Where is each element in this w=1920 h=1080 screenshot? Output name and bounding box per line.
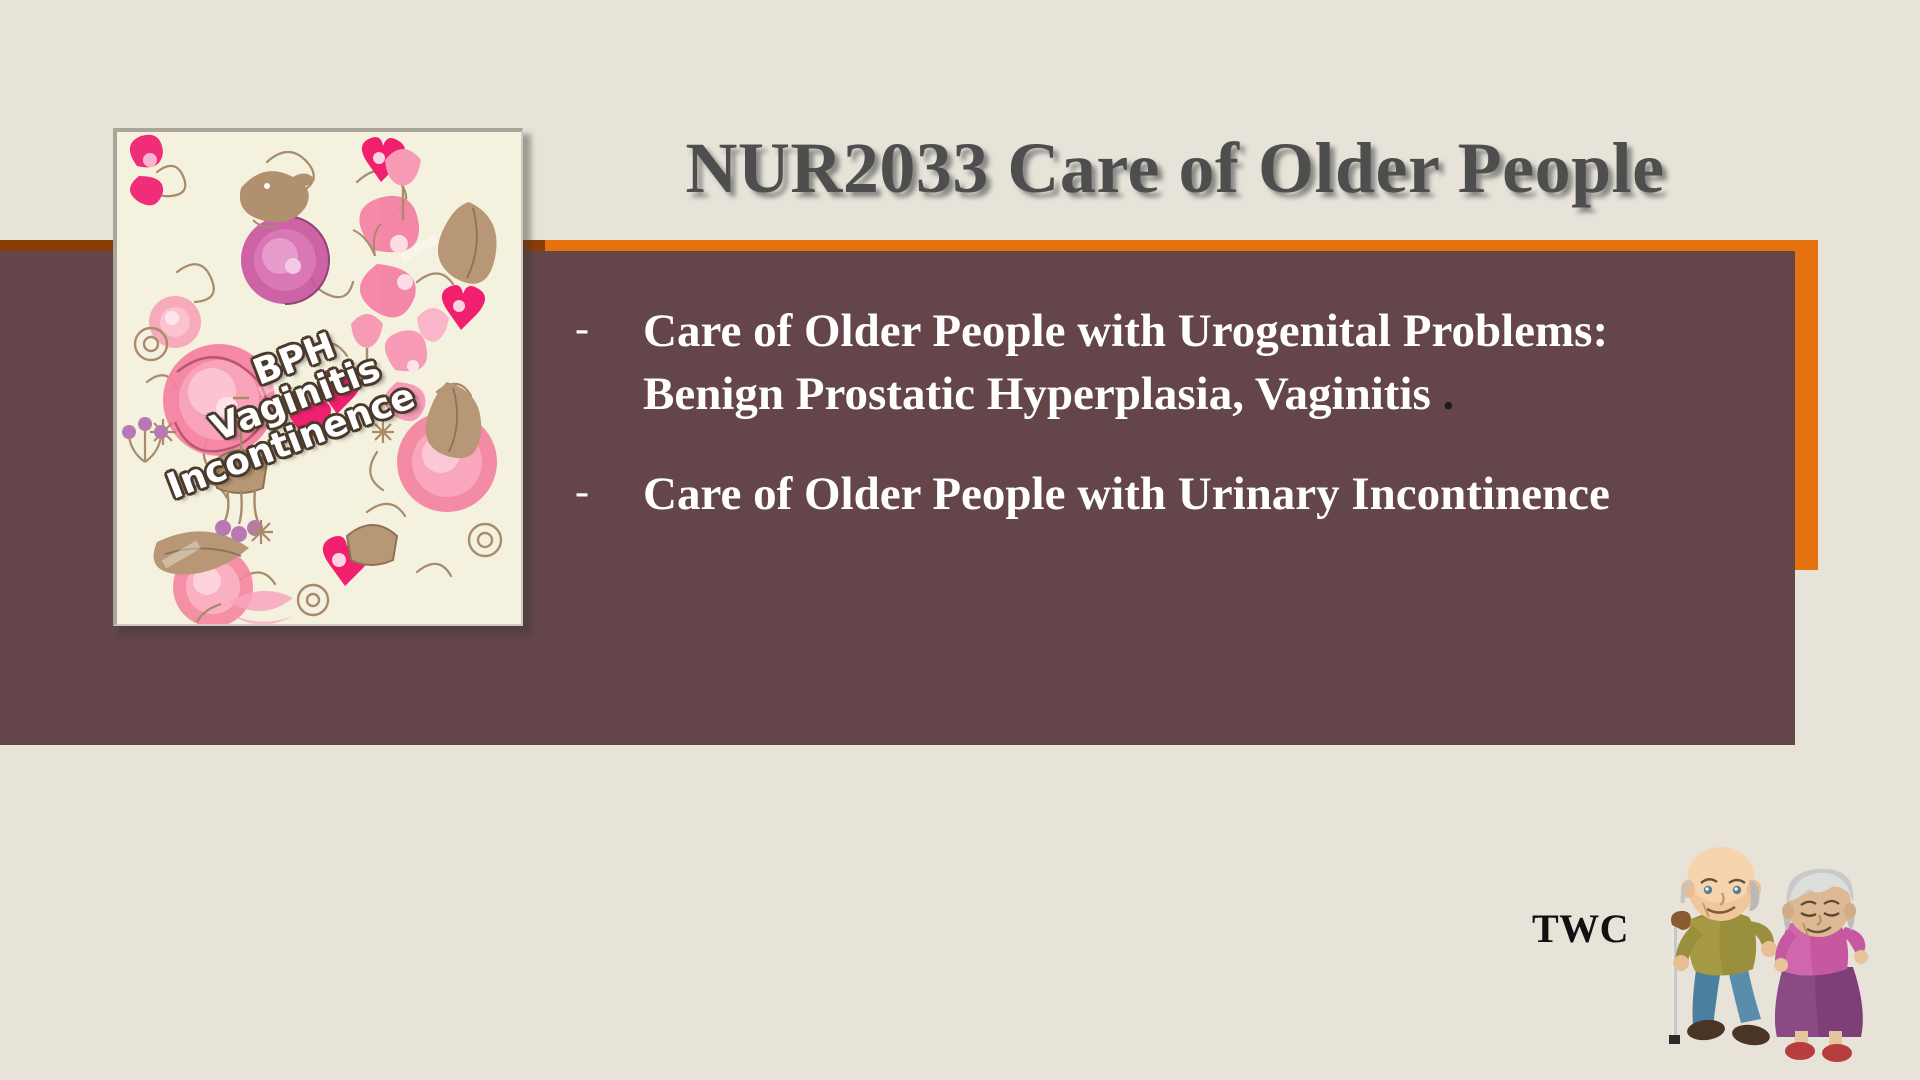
bullet-body: Care of Older People with Urogenital Pro…	[643, 305, 1608, 420]
bullet-text: Care of Older People with Urinary Incont…	[643, 463, 1760, 526]
bullet-list: - Care of Older People with Urogenital P…	[575, 300, 1760, 564]
bullet-body: Care of Older People with Urinary Incont…	[643, 468, 1610, 520]
bullet-dash-icon: -	[575, 463, 643, 521]
elderly-couple-clipart	[1645, 845, 1895, 1075]
list-item: - Care of Older People with Urogenital P…	[575, 300, 1760, 425]
decorative-picture: BPH Vaginitis Incontinence	[113, 128, 525, 628]
bullet-text: Care of Older People with Urogenital Pro…	[643, 300, 1760, 425]
bullet-dash-icon: -	[575, 300, 643, 358]
slide-canvas: NUR2033 Care of Older People - Care of O…	[0, 0, 1920, 1080]
credit-label: TWC	[1532, 905, 1629, 952]
picture-frame: BPH Vaginitis Incontinence	[113, 128, 523, 626]
bullet-trailing-period: .	[1443, 368, 1455, 420]
page-title: NUR2033 Care of Older People	[560, 130, 1790, 206]
elderly-couple-illustration	[1645, 845, 1895, 1075]
floral-doodle-illustration	[117, 132, 521, 624]
list-item: - Care of Older People with Urinary Inco…	[575, 463, 1760, 526]
